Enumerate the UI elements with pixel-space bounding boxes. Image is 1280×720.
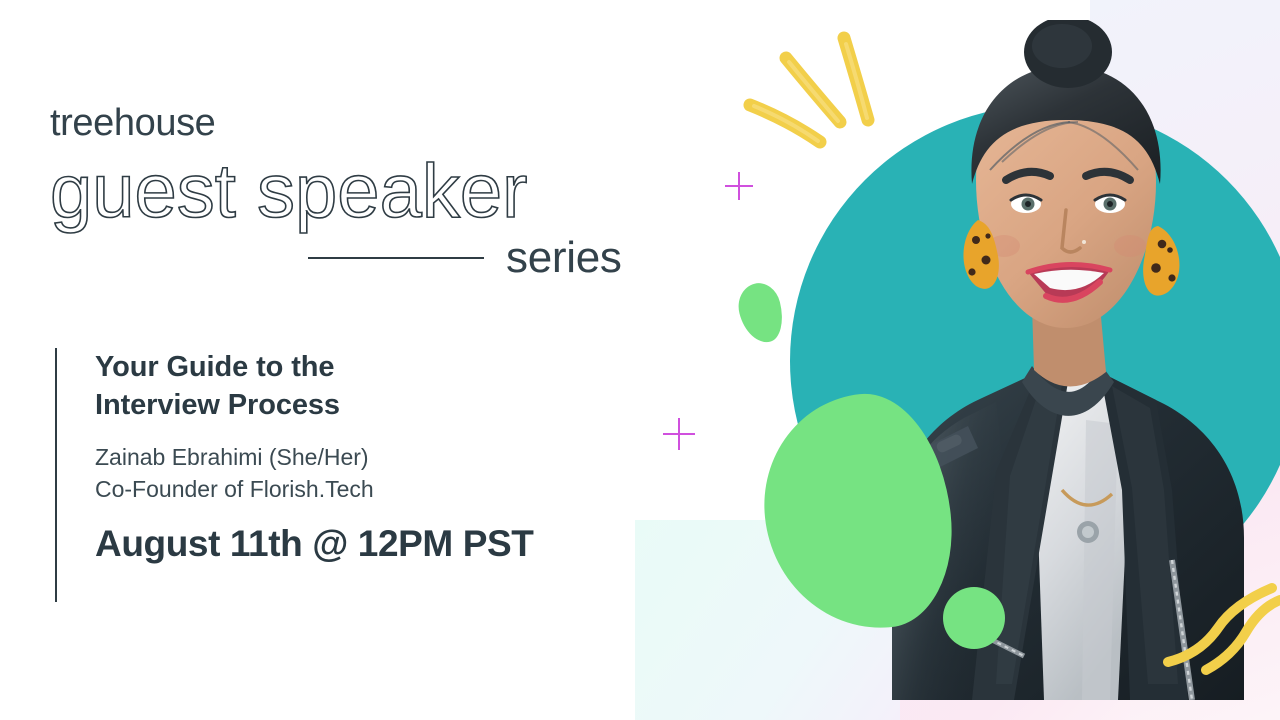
talk-title: Your Guide to the Interview Process: [95, 348, 533, 425]
event-details: Your Guide to the Interview Process Zain…: [55, 348, 533, 602]
green-dot-shape: [943, 587, 1005, 649]
guest-speaker-headline: guest speaker: [50, 152, 670, 232]
series-row: series: [50, 236, 670, 280]
event-datetime: August 11th @ 12PM PST: [95, 524, 533, 565]
series-divider-rule: [308, 257, 484, 259]
speaker-name: Zainab Ebrahimi (She/Her): [95, 441, 533, 474]
brand-lockup: treehouse guest speaker series: [50, 104, 670, 280]
treehouse-wordmark: treehouse: [50, 104, 670, 142]
plus-mark-middle-icon: [663, 418, 695, 450]
plus-mark-top-icon: [725, 172, 753, 200]
series-label: series: [506, 236, 622, 280]
promo-graphic: treehouse guest speaker series Your Guid…: [0, 0, 1280, 720]
speaker-role: Co-Founder of Florish.Tech: [95, 473, 533, 506]
green-blob-small-shape: [733, 279, 788, 347]
